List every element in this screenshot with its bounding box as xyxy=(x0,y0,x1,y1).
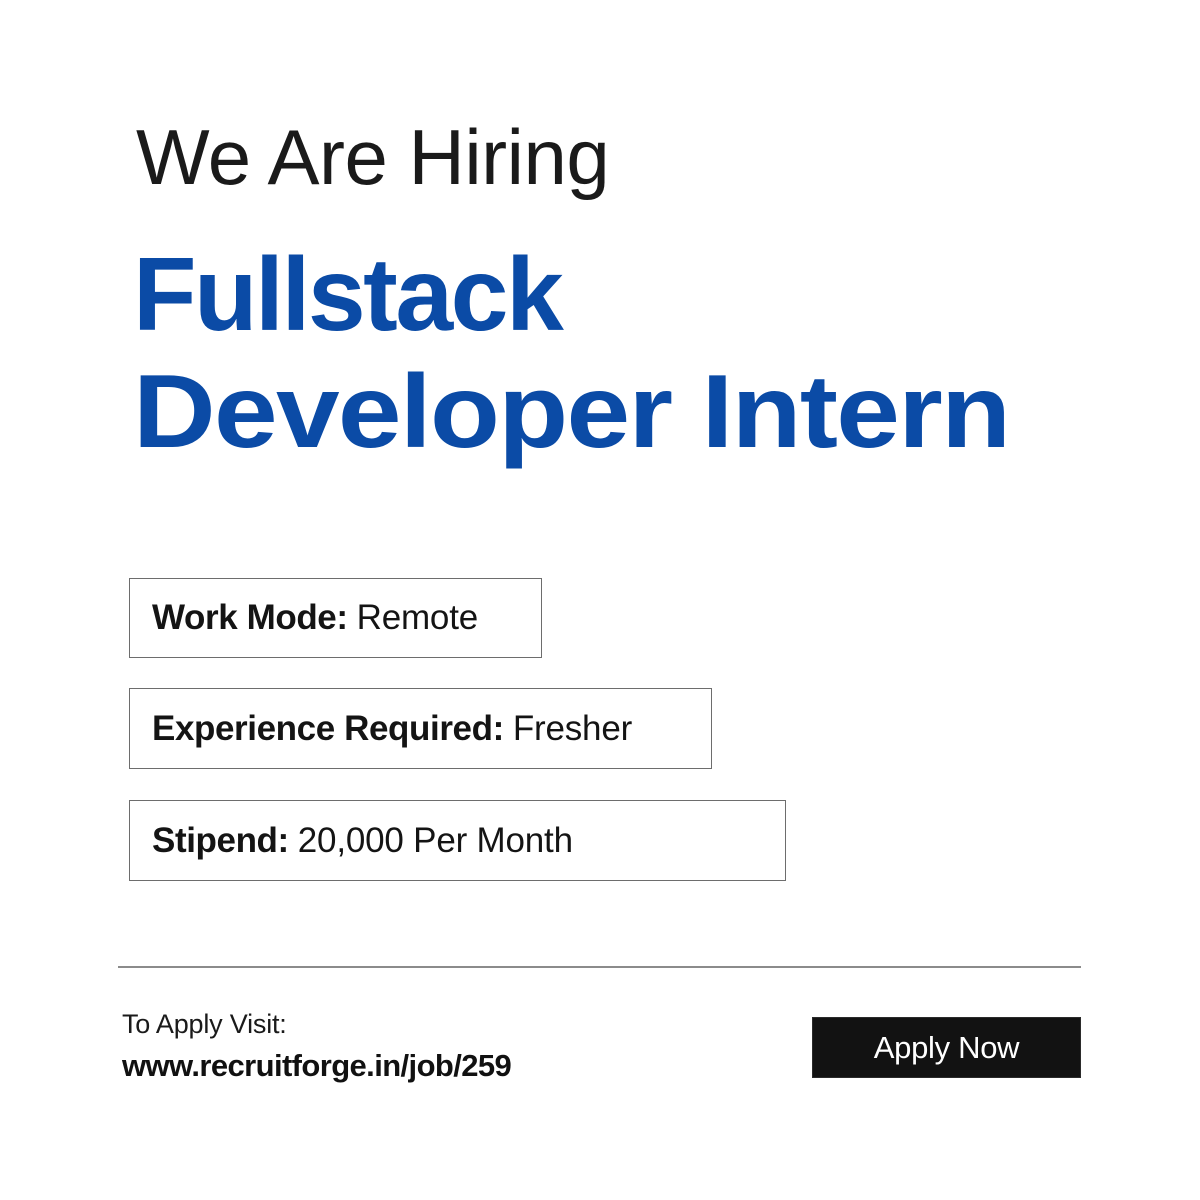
detail-value-experience: Fresher xyxy=(513,709,632,749)
footer-divider xyxy=(118,966,1081,968)
hiring-poster: We Are Hiring Fullstack Developer Intern… xyxy=(0,0,1200,1200)
detail-chip-stipend: Stipend: 20,000 Per Month xyxy=(129,800,786,881)
apply-now-button[interactable]: Apply Now xyxy=(812,1017,1081,1078)
detail-chip-experience: Experience Required: Fresher xyxy=(129,688,712,769)
job-title-line-2: Developer Intern xyxy=(133,360,1167,464)
detail-label-work-mode: Work Mode: xyxy=(152,598,348,638)
detail-chip-work-mode: Work Mode: Remote xyxy=(129,578,542,658)
detail-label-experience: Experience Required: xyxy=(152,709,504,749)
detail-value-stipend: 20,000 Per Month xyxy=(298,821,573,861)
apply-instructions: To Apply Visit: www.recruitforge.in/job/… xyxy=(122,1007,511,1085)
job-title-line-1: Fullstack xyxy=(133,243,561,347)
detail-value-work-mode: Remote xyxy=(357,598,478,638)
apply-visit-label: To Apply Visit: xyxy=(122,1007,511,1042)
detail-label-stipend: Stipend: xyxy=(152,821,289,861)
apply-visit-url[interactable]: www.recruitforge.in/job/259 xyxy=(122,1046,511,1086)
poster-eyebrow: We Are Hiring xyxy=(136,117,609,199)
